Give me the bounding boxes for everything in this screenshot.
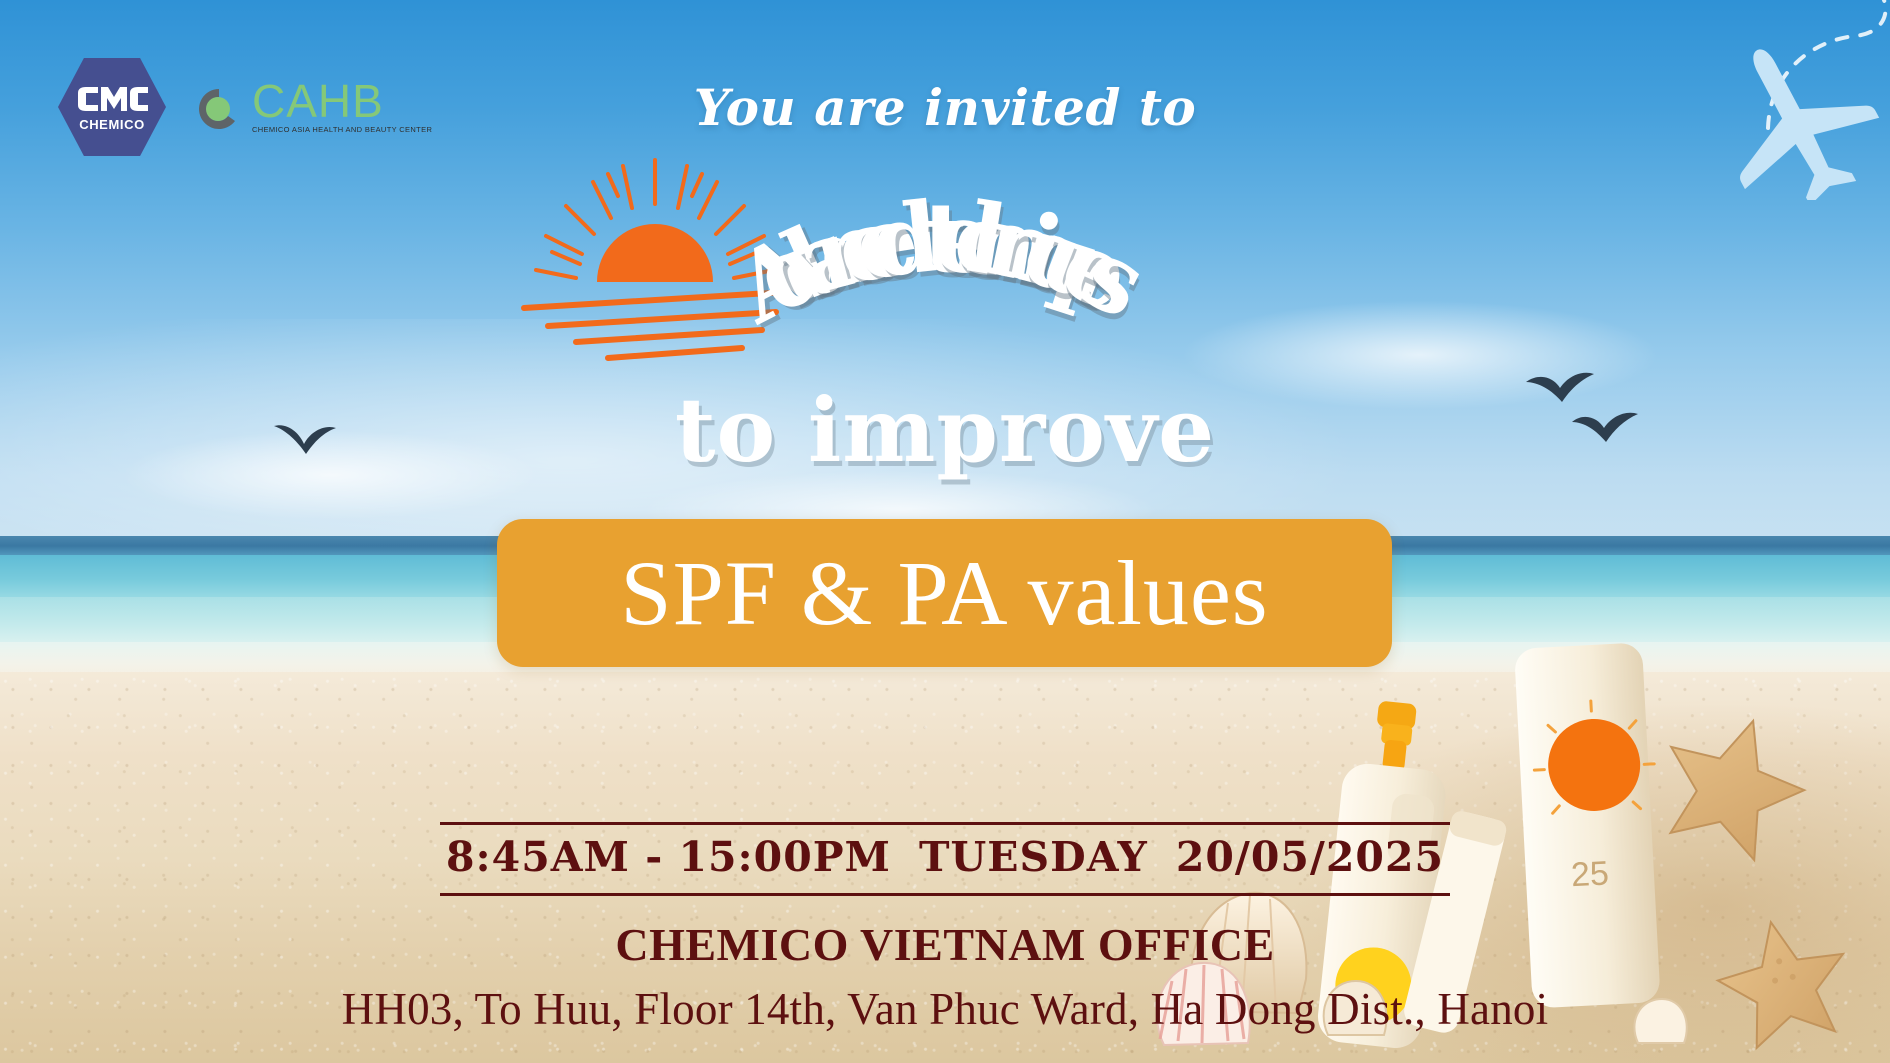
event-address: HH03, To Huu, Floor 14th, Van Phuc Ward,… <box>0 983 1890 1035</box>
kicker-text: You are invited to <box>0 78 1890 137</box>
invitation-poster: CHEMICO CAHB CHEMICO ASIA HEALTH AND BEA… <box>0 0 1890 1063</box>
event-details: 8:45AM - 15:00PM TUESDAY 20/05/2025 CHEM… <box>0 822 1890 1035</box>
title-line-two: to improve <box>0 378 1890 482</box>
topic-banner-text: SPF & PA values <box>620 540 1268 646</box>
event-day: TUESDAY <box>919 833 1148 881</box>
event-time: 8:45AM - 15:00PM <box>446 833 891 881</box>
arched-title: Advanced techniques <box>0 190 1890 370</box>
event-date: 20/05/2025 <box>1176 833 1444 881</box>
event-when-box: 8:45AM - 15:00PM TUESDAY 20/05/2025 <box>440 822 1450 896</box>
event-when: 8:45AM - 15:00PM TUESDAY 20/05/2025 <box>440 833 1450 881</box>
event-venue: CHEMICO VIETNAM OFFICE <box>0 918 1890 971</box>
